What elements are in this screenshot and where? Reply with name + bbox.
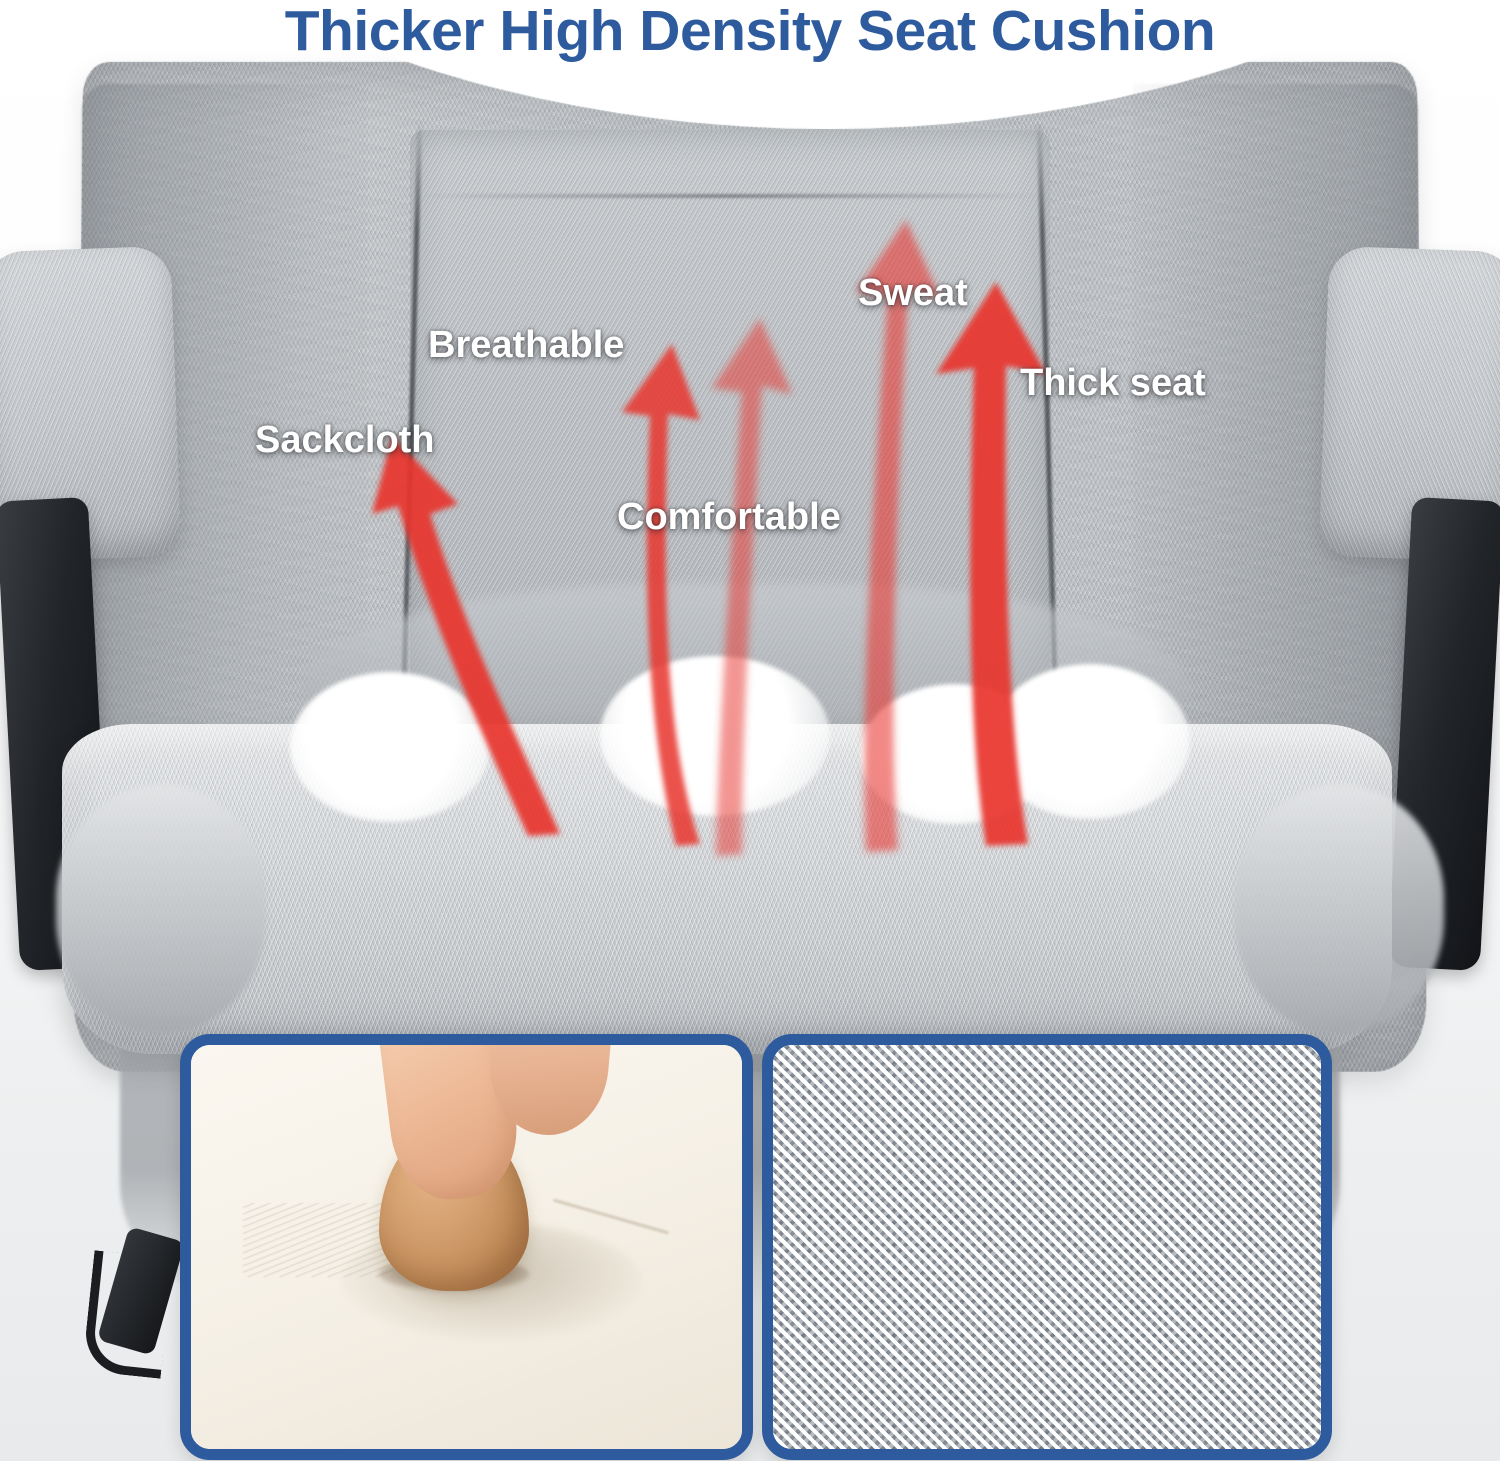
airflow-arrow-2 [622,344,700,846]
feature-label-breathable: Breathable [428,324,624,367]
feature-label-comfortable: Comfortable [617,496,841,539]
product-feature-image: Thicker High Density Seat Cushion [0,0,1500,1461]
airflow-arrow-1 [372,436,560,836]
feature-label-thickseat: Thick seat [1020,362,1206,405]
inset-fabric-macro[interactable] [762,1034,1332,1460]
feature-label-sackcloth: Sackcloth [255,419,435,462]
woven-fabric-texture [773,1045,1321,1449]
airflow-arrow-3 [712,318,792,856]
inset-egg-press-demo[interactable] [180,1034,753,1460]
feature-label-sweat: Sweat [858,272,968,315]
page-title: Thicker High Density Seat Cushion [0,0,1500,64]
